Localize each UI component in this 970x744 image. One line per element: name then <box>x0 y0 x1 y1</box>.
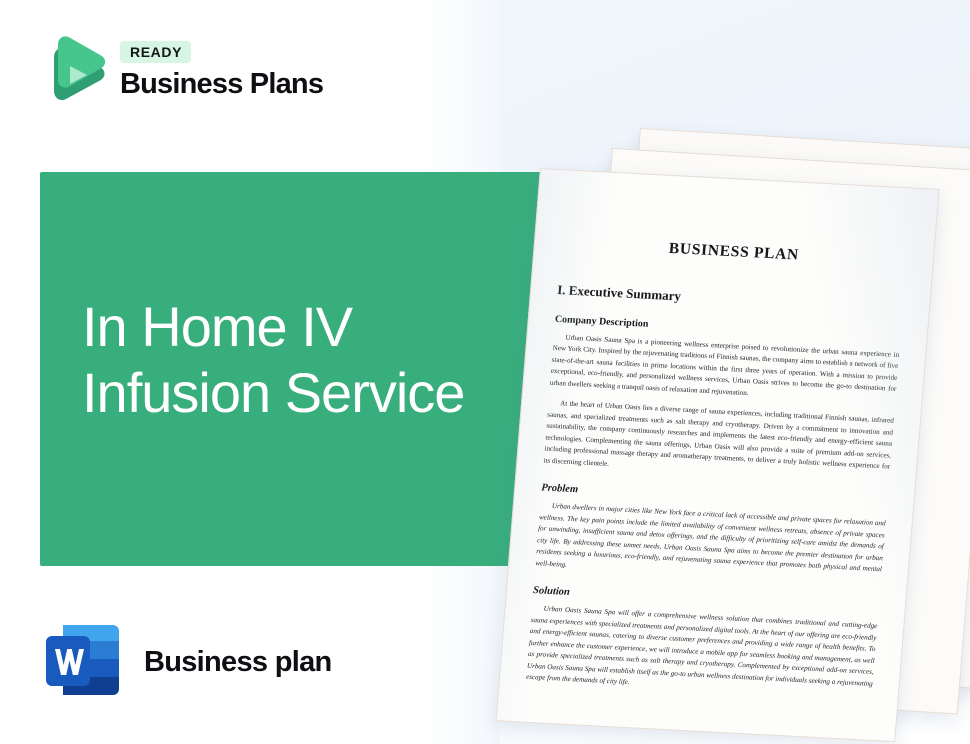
file-label: Business plan <box>144 646 332 679</box>
document-paragraph: At the heart of Urban Oasis lies a diver… <box>543 398 894 485</box>
document-paragraph: Urban Oasis Sauna Spa is a pioneering we… <box>549 332 899 407</box>
document-content: BUSINESS PLAN I. Executive Summary Compa… <box>497 169 939 741</box>
document-page-front[interactable]: BUSINESS PLAN I. Executive Summary Compa… <box>495 168 939 742</box>
hero-card: In Home IV Infusion Service <box>40 172 570 566</box>
play-triangle-logo-icon <box>44 33 106 109</box>
document-title: BUSINESS PLAN <box>560 234 907 270</box>
poster-canvas: READY Business Plans In Home IV Infusion… <box>0 0 970 744</box>
brand-text-block: READY Business Plans <box>120 41 323 101</box>
microsoft-word-icon <box>44 620 122 704</box>
file-footer[interactable]: Business plan <box>44 620 332 704</box>
document-paragraph: Urban dwellers in major cities like New … <box>535 501 886 588</box>
brand-name: Business Plans <box>120 69 323 101</box>
ready-badge: READY <box>120 41 191 63</box>
hero-title: In Home IV Infusion Service <box>82 294 552 426</box>
brand-header: READY Business Plans <box>44 33 323 109</box>
document-paragraph: Urban Oasis Sauna Spa will offer a compr… <box>526 603 878 701</box>
document-section-heading: I. Executive Summary <box>557 282 904 316</box>
